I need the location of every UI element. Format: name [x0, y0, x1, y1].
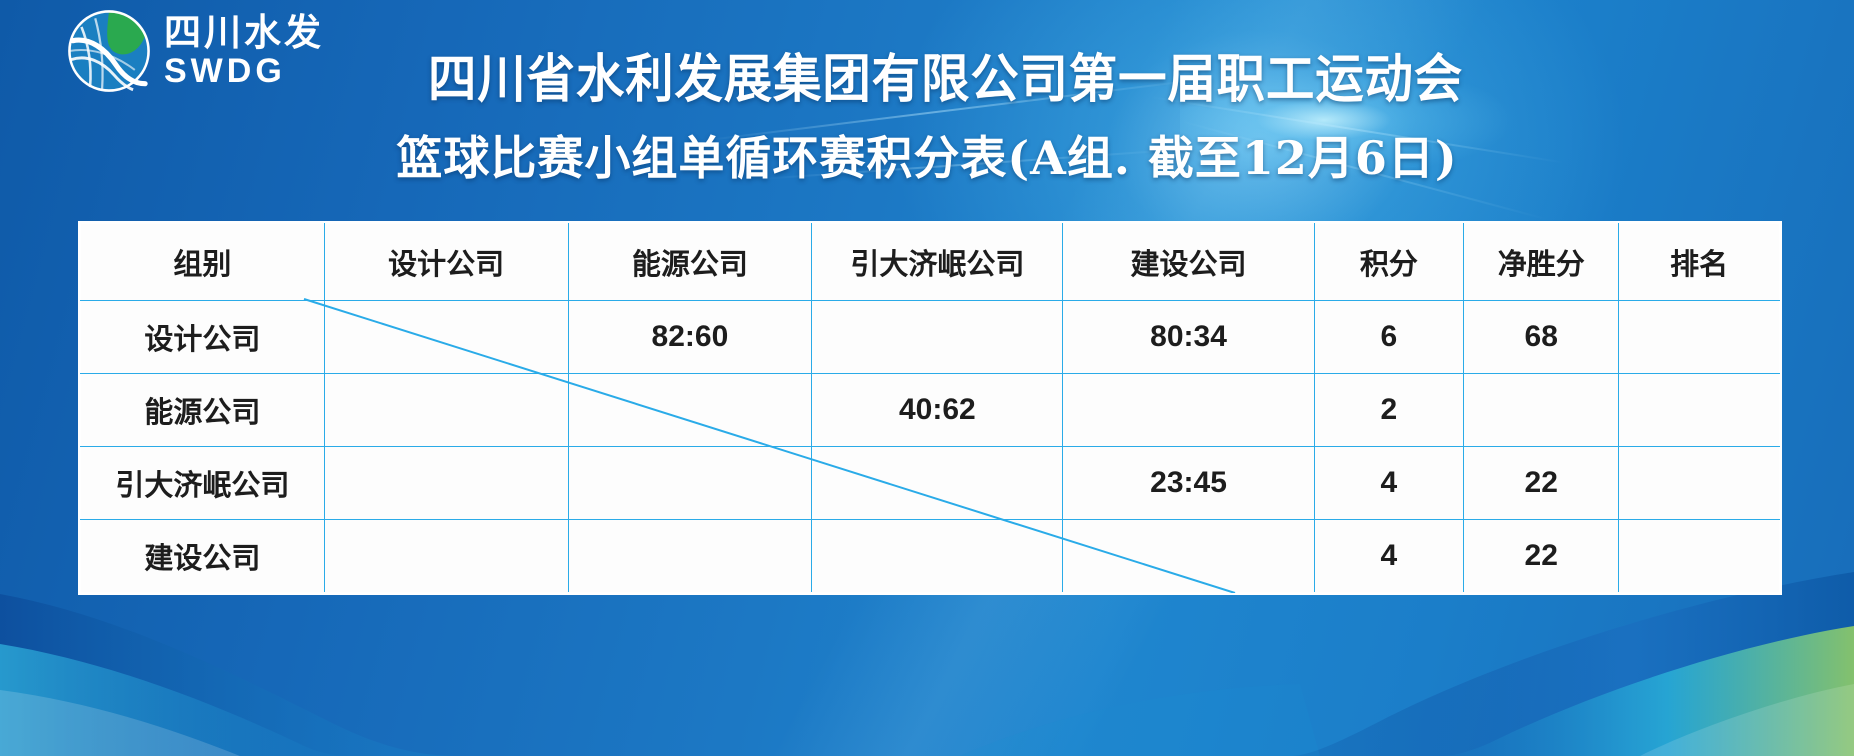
- standings-table: 组别 设计公司 能源公司 引大济岷公司 建设公司 积分 净胜分 排名 设计公司 …: [80, 223, 1780, 593]
- table-row: 引大济岷公司 23:45 4 22: [81, 447, 1780, 520]
- match-cell: [568, 520, 812, 593]
- match-cell: [1063, 374, 1314, 447]
- row-rank: [1619, 520, 1780, 593]
- row-net-score: 68: [1464, 301, 1619, 374]
- row-points: 4: [1314, 447, 1464, 520]
- row-rank: [1619, 374, 1780, 447]
- column-header-construction: 建设公司: [1063, 224, 1314, 301]
- table-row: 设计公司 82:60 80:34 6 68: [81, 301, 1780, 374]
- row-team-name: 设计公司: [81, 301, 325, 374]
- table-row: 建设公司 4 22: [81, 520, 1780, 593]
- row-team-name: 能源公司: [81, 374, 325, 447]
- column-header-energy: 能源公司: [568, 224, 812, 301]
- row-points: 2: [1314, 374, 1464, 447]
- match-cell: 40:62: [812, 374, 1063, 447]
- table-header-row: 组别 设计公司 能源公司 引大济岷公司 建设公司 积分 净胜分 排名: [81, 224, 1780, 301]
- column-header-rank: 排名: [1619, 224, 1780, 301]
- row-team-name: 引大济岷公司: [81, 447, 325, 520]
- logo-name-cn: 四川水发: [164, 14, 324, 51]
- match-cell: [324, 374, 568, 447]
- match-cell: [812, 520, 1063, 593]
- column-header-group: 组别: [81, 224, 325, 301]
- row-points: 6: [1314, 301, 1464, 374]
- row-net-score: 22: [1464, 447, 1619, 520]
- row-team-name: 建设公司: [81, 520, 325, 593]
- event-banner: 四川水发 SWDG 四川省水利发展集团有限公司第一届职工运动会 篮球比赛小组单循…: [0, 0, 1854, 756]
- match-cell: [812, 301, 1063, 374]
- row-net-score: [1464, 374, 1619, 447]
- match-cell: 23:45: [1063, 447, 1314, 520]
- standings-table-container: 组别 设计公司 能源公司 引大济岷公司 建设公司 积分 净胜分 排名 设计公司 …: [78, 221, 1782, 595]
- event-title: 四川省水利发展集团有限公司第一届职工运动会: [65, 52, 1789, 108]
- event-subtitle: 篮球比赛小组单循环赛积分表(A组. 截至12月6日): [0, 133, 1854, 185]
- row-rank: [1619, 447, 1780, 520]
- match-cell: [1063, 520, 1314, 593]
- match-cell: [568, 447, 812, 520]
- column-header-yindajimin: 引大济岷公司: [812, 224, 1063, 301]
- row-rank: [1619, 301, 1780, 374]
- match-cell: 82:60: [568, 301, 812, 374]
- match-cell: 80:34: [1063, 301, 1314, 374]
- match-cell: [324, 301, 568, 374]
- match-cell: [324, 520, 568, 593]
- match-cell: [568, 374, 812, 447]
- row-points: 4: [1314, 520, 1464, 593]
- match-cell: [324, 447, 568, 520]
- row-net-score: 22: [1464, 520, 1619, 593]
- column-header-net-score: 净胜分: [1464, 224, 1619, 301]
- table-row: 能源公司 40:62 2: [81, 374, 1780, 447]
- column-header-points: 积分: [1314, 224, 1464, 301]
- column-header-design: 设计公司: [324, 224, 568, 301]
- match-cell: [812, 447, 1063, 520]
